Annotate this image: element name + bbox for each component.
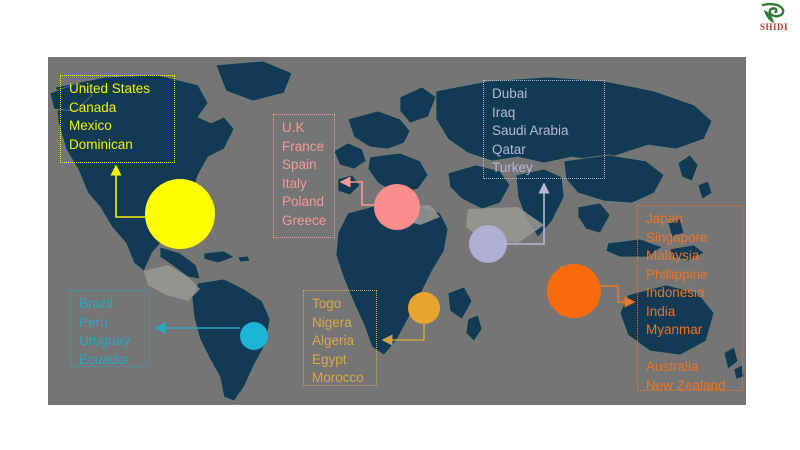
callout-blank-line <box>646 340 736 359</box>
country-label: Indonesia <box>646 284 736 303</box>
callout-middle-east[interactable]: DubaiIraqSaudi ArabiaQatarTurkey <box>483 80 605 179</box>
callout-south-america[interactable]: BrazilPeruUruguayEcuador <box>70 290 150 367</box>
country-label: Italy <box>282 175 328 194</box>
country-label: U.K <box>282 119 328 138</box>
brand-logo: SHIDI <box>752 2 796 38</box>
bubble-north-america[interactable] <box>145 179 215 249</box>
country-label: Turkey <box>492 159 598 178</box>
country-label: Algeria <box>312 332 370 351</box>
country-label: Dubai <box>492 85 598 104</box>
logo-wordmark: SHIDI <box>752 22 796 32</box>
country-label: Saudi Arabia <box>492 122 598 141</box>
country-label: Singapore <box>646 229 736 248</box>
country-label: Qatar <box>492 141 598 160</box>
country-label: United States <box>69 80 168 99</box>
callout-north-america[interactable]: United StatesCanadaMexicoDominican <box>60 75 175 163</box>
bubble-middle-east[interactable] <box>469 225 507 263</box>
country-label: Iraq <box>492 104 598 123</box>
country-label: Canada <box>69 99 168 118</box>
country-label: India <box>646 303 736 322</box>
bubble-asia-pacific[interactable] <box>547 264 601 318</box>
country-label: Phillippine <box>646 266 736 285</box>
country-label: Dominican <box>69 136 168 155</box>
country-label: Greece <box>282 212 328 231</box>
country-label: Myanmar <box>646 321 736 340</box>
country-label: Australia <box>646 358 736 377</box>
country-label: Peru <box>79 314 143 333</box>
country-label: Brazil <box>79 295 143 314</box>
country-label: Morocco <box>312 369 370 388</box>
callout-asia-pacific[interactable]: JapanSingaporeMalaysiaPhillippineIndones… <box>637 205 743 391</box>
bubble-south-america[interactable] <box>240 322 268 350</box>
callout-africa[interactable]: TogoNigeraAlgeriaEgyptMorocco <box>303 290 377 386</box>
country-label: Japan <box>646 210 736 229</box>
country-label: Egypt <box>312 351 370 370</box>
slide-canvas: SHIDI <box>0 0 800 450</box>
country-label: Spain <box>282 156 328 175</box>
country-label: Ecuador <box>79 351 143 370</box>
bubble-africa[interactable] <box>408 292 440 324</box>
country-label: Poland <box>282 193 328 212</box>
leaf-swirl-icon <box>760 2 786 24</box>
country-label: Togo <box>312 295 370 314</box>
callout-europe[interactable]: U.KFranceSpainItalyPolandGreece <box>273 114 335 238</box>
country-label: Malaysia <box>646 247 736 266</box>
country-label: Nigera <box>312 314 370 333</box>
country-label: Mexico <box>69 117 168 136</box>
bubble-europe[interactable] <box>374 184 420 230</box>
country-label: Uruguay <box>79 332 143 351</box>
country-label: France <box>282 138 328 157</box>
country-label: New Zealand <box>646 377 736 396</box>
